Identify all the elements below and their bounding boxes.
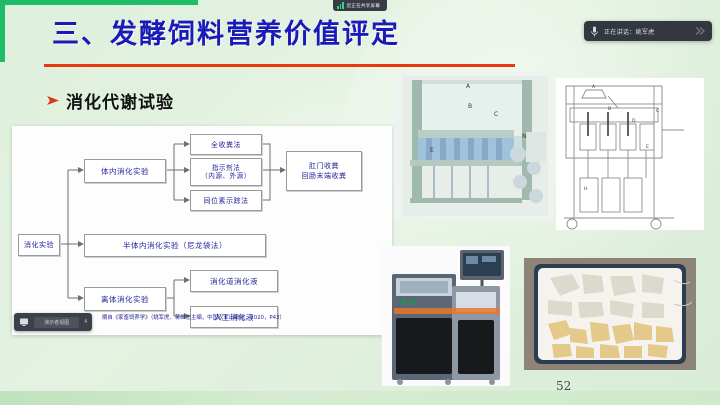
nylon-bags-tray-photo: [524, 258, 696, 370]
node-total-collection: 全收粪法: [190, 134, 262, 155]
frame-accent-top: [0, 0, 198, 5]
document-floating-toolbar[interactable]: 演示者视图 4: [14, 313, 92, 331]
node-in-vivo: 体内消化实验: [84, 159, 166, 183]
frame-accent-bottom: [0, 391, 720, 405]
screen-share-status-label: 您正在共享屏幕: [347, 3, 381, 9]
speaker-prefix: 正在讲话：: [604, 30, 636, 36]
node-gut-digestive-juice: 消化道消化液: [190, 270, 278, 292]
node-isotope-tracer: 同位素示踪法: [190, 190, 262, 211]
diagram-source-caption: 摘自《家畜饲养学》（姚军虎、蒋继志主编，中国农业出版社，2020，P43）: [102, 313, 285, 321]
svg-text:B: B: [608, 106, 611, 112]
svg-text:N: N: [522, 133, 527, 140]
slide-number: 52: [556, 379, 571, 393]
page-title: 三、发酵饲料营养价值评定: [52, 20, 400, 50]
node-semi-in-vivo: 半体内消化实验（尼龙袋法）: [84, 234, 266, 257]
digestion-experiment-diagram: 消化实验 体内消化实验 全收粪法 指示剂法 （内源、外源） 同位素示踪法 肛门收…: [12, 126, 392, 335]
node-collection-site: 肛门收粪 回肠末端收粪: [286, 151, 362, 191]
presenter-icon[interactable]: [19, 317, 29, 327]
svg-text:H: H: [584, 186, 587, 192]
in-vitro-digestion-simulator-photo: [382, 246, 510, 386]
section-heading-label: 消化代谢试验: [66, 88, 174, 113]
arrow-bullet-icon: [46, 94, 61, 107]
embedded-document: 消化实验 体内消化实验 全收粪法 指示剂法 （内源、外源） 同位素示踪法 肛门收…: [12, 126, 392, 335]
slide-screen: 三、发酵饲料营养价值评定 消化代谢试验: [0, 0, 720, 405]
presenter-view-label[interactable]: 演示者视图: [34, 317, 79, 328]
active-speaker-bar[interactable]: 正在讲话：姚军虎: [584, 21, 712, 41]
node-indicator-method: 指示剂法 （内源、外源）: [190, 158, 262, 186]
title-underline: [44, 64, 515, 67]
section-heading: 消化代谢试验: [46, 88, 174, 113]
svg-text:E: E: [430, 147, 434, 154]
svg-text:E: E: [646, 144, 649, 150]
svg-text:B: B: [468, 103, 472, 110]
document-page-number: 4: [84, 319, 87, 325]
node-root: 消化实验: [18, 234, 60, 256]
active-speaker-label: 正在讲话：姚军虎: [604, 27, 687, 36]
svg-text:D: D: [632, 118, 636, 124]
node-in-vitro: 离体消化实验: [84, 287, 166, 311]
speaker-name: 姚军虎: [636, 30, 655, 36]
svg-text:C: C: [494, 111, 498, 118]
svg-text:C: C: [656, 108, 659, 114]
chevron-right-icon[interactable]: [693, 26, 705, 36]
apparatus-schematic-drawing: ABC DEH: [556, 78, 704, 230]
digestion-metabolism-cage-photo: ABC EN: [394, 72, 554, 220]
screen-share-status-bar: 您正在共享屏幕: [333, 0, 387, 11]
signal-bars-icon: [337, 2, 344, 9]
frame-accent-left: [0, 0, 5, 62]
microphone-icon[interactable]: [591, 26, 598, 37]
